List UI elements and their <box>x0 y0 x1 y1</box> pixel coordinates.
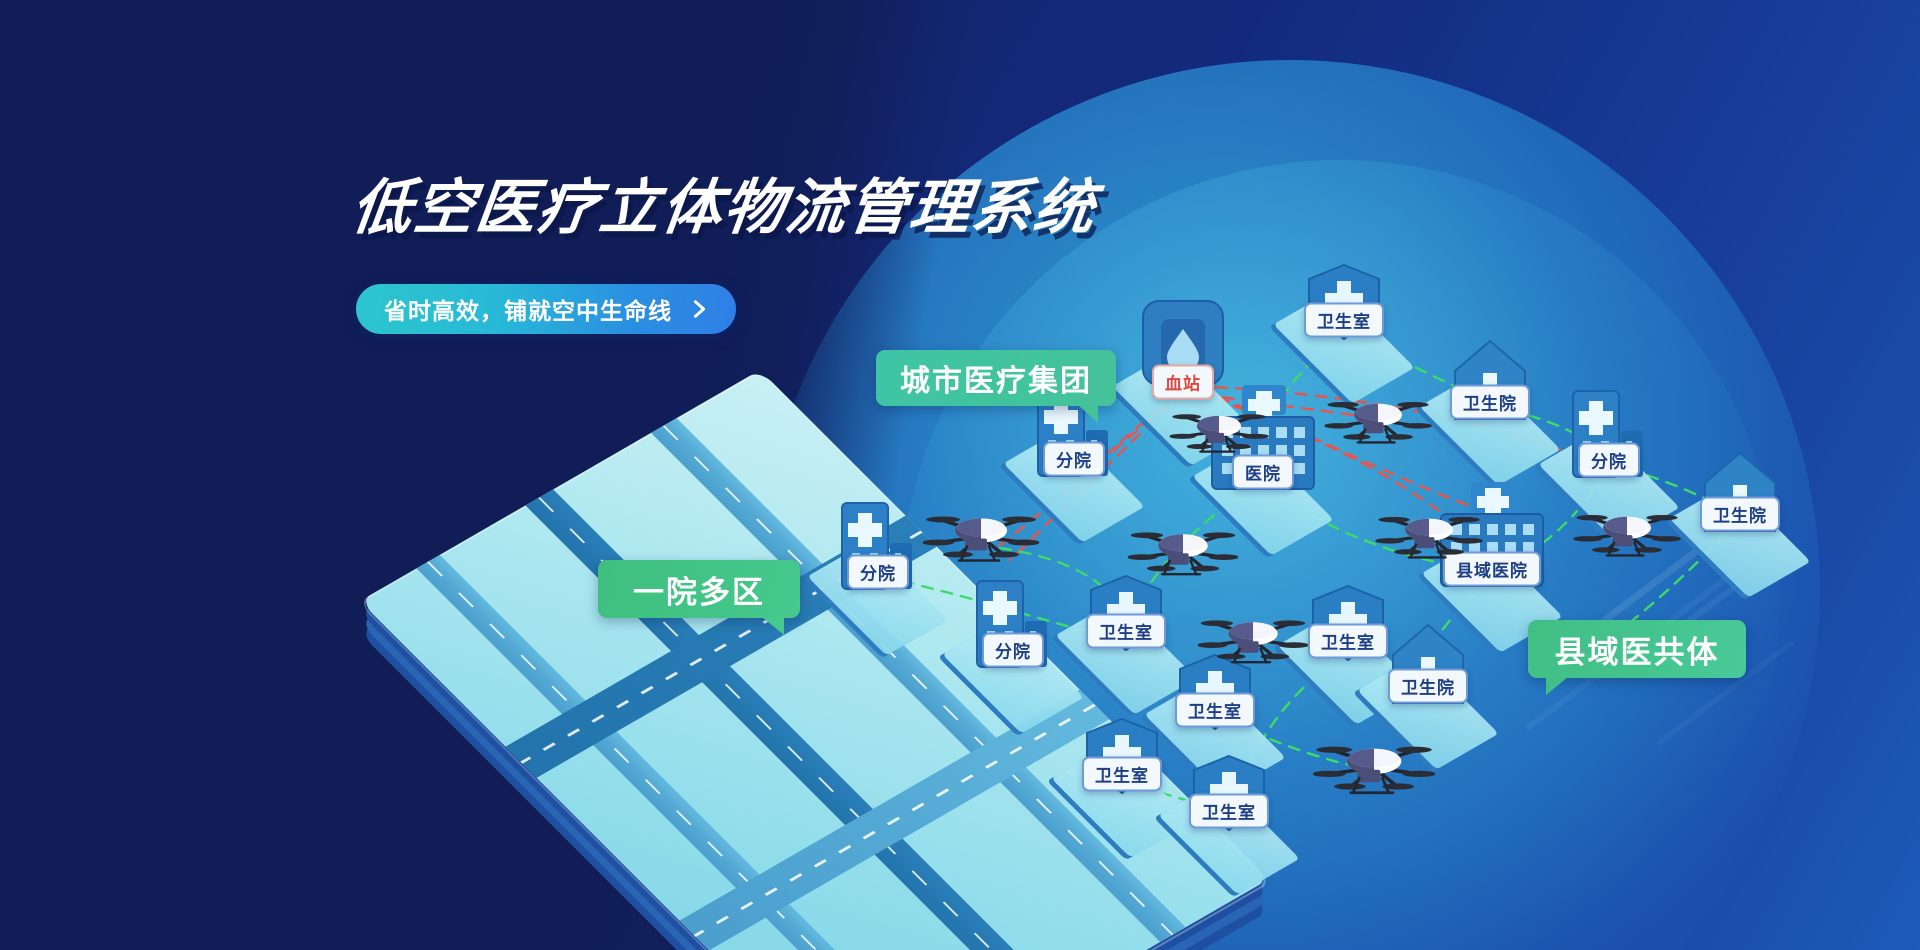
node-label-n15[interactable]: 卫生室 <box>1082 757 1162 792</box>
node-label-n3[interactable]: 分院 <box>1578 443 1640 478</box>
drone-icon <box>1376 504 1483 568</box>
chevron-right-icon <box>688 298 710 320</box>
drone-icon <box>1198 607 1308 673</box>
node-label-n4[interactable]: 卫生院 <box>1700 497 1780 532</box>
hero-banner: 卫生室卫生院分院卫生院血站分院医院县域医院分院分院卫生室卫生室卫生院卫生室卫生室… <box>0 0 1920 950</box>
tag-tail <box>1078 405 1098 423</box>
drone-icon <box>1574 502 1681 566</box>
drone-icon <box>1313 732 1435 804</box>
callout-tag-label: 城市医疗集团 <box>900 356 1092 400</box>
node-label-n12[interactable]: 卫生室 <box>1308 624 1388 659</box>
node-label-n11[interactable]: 卫生室 <box>1086 614 1166 649</box>
page-title: 低空医疗立体物流管理系统 <box>348 178 1099 238</box>
callout-tag-one-hospital-multi-campus[interactable]: 一院多区 <box>598 560 800 618</box>
drone-icon <box>1170 402 1269 461</box>
drone-icon <box>1325 389 1432 453</box>
callout-tag-label: 一院多区 <box>633 567 765 612</box>
node-label-n14[interactable]: 卫生室 <box>1175 693 1255 728</box>
callout-tag-city-medical-group[interactable]: 城市医疗集团 <box>876 350 1116 406</box>
node-label-n13[interactable]: 卫生院 <box>1388 669 1468 704</box>
node-label-n2[interactable]: 卫生院 <box>1450 385 1530 420</box>
drone-icon <box>923 503 1039 572</box>
node-label-n16[interactable]: 卫生室 <box>1189 794 1269 829</box>
tag-tail <box>762 617 784 635</box>
callout-tag-county-medical-community[interactable]: 县域医共体 <box>1528 620 1746 678</box>
cta-button[interactable]: 省时高效，铺就空中生命线 <box>356 284 736 334</box>
node-label-n6[interactable]: 分院 <box>1043 442 1105 477</box>
tag-tail <box>1546 677 1568 695</box>
node-label-n9[interactable]: 分院 <box>847 555 909 590</box>
callout-tag-label: 县域医共体 <box>1555 627 1720 672</box>
node-label-n1[interactable]: 卫生室 <box>1304 303 1384 338</box>
node-label-n10[interactable]: 分院 <box>982 633 1044 668</box>
cta-label: 省时高效，铺就空中生命线 <box>384 292 672 326</box>
drone-icon <box>1128 519 1238 585</box>
